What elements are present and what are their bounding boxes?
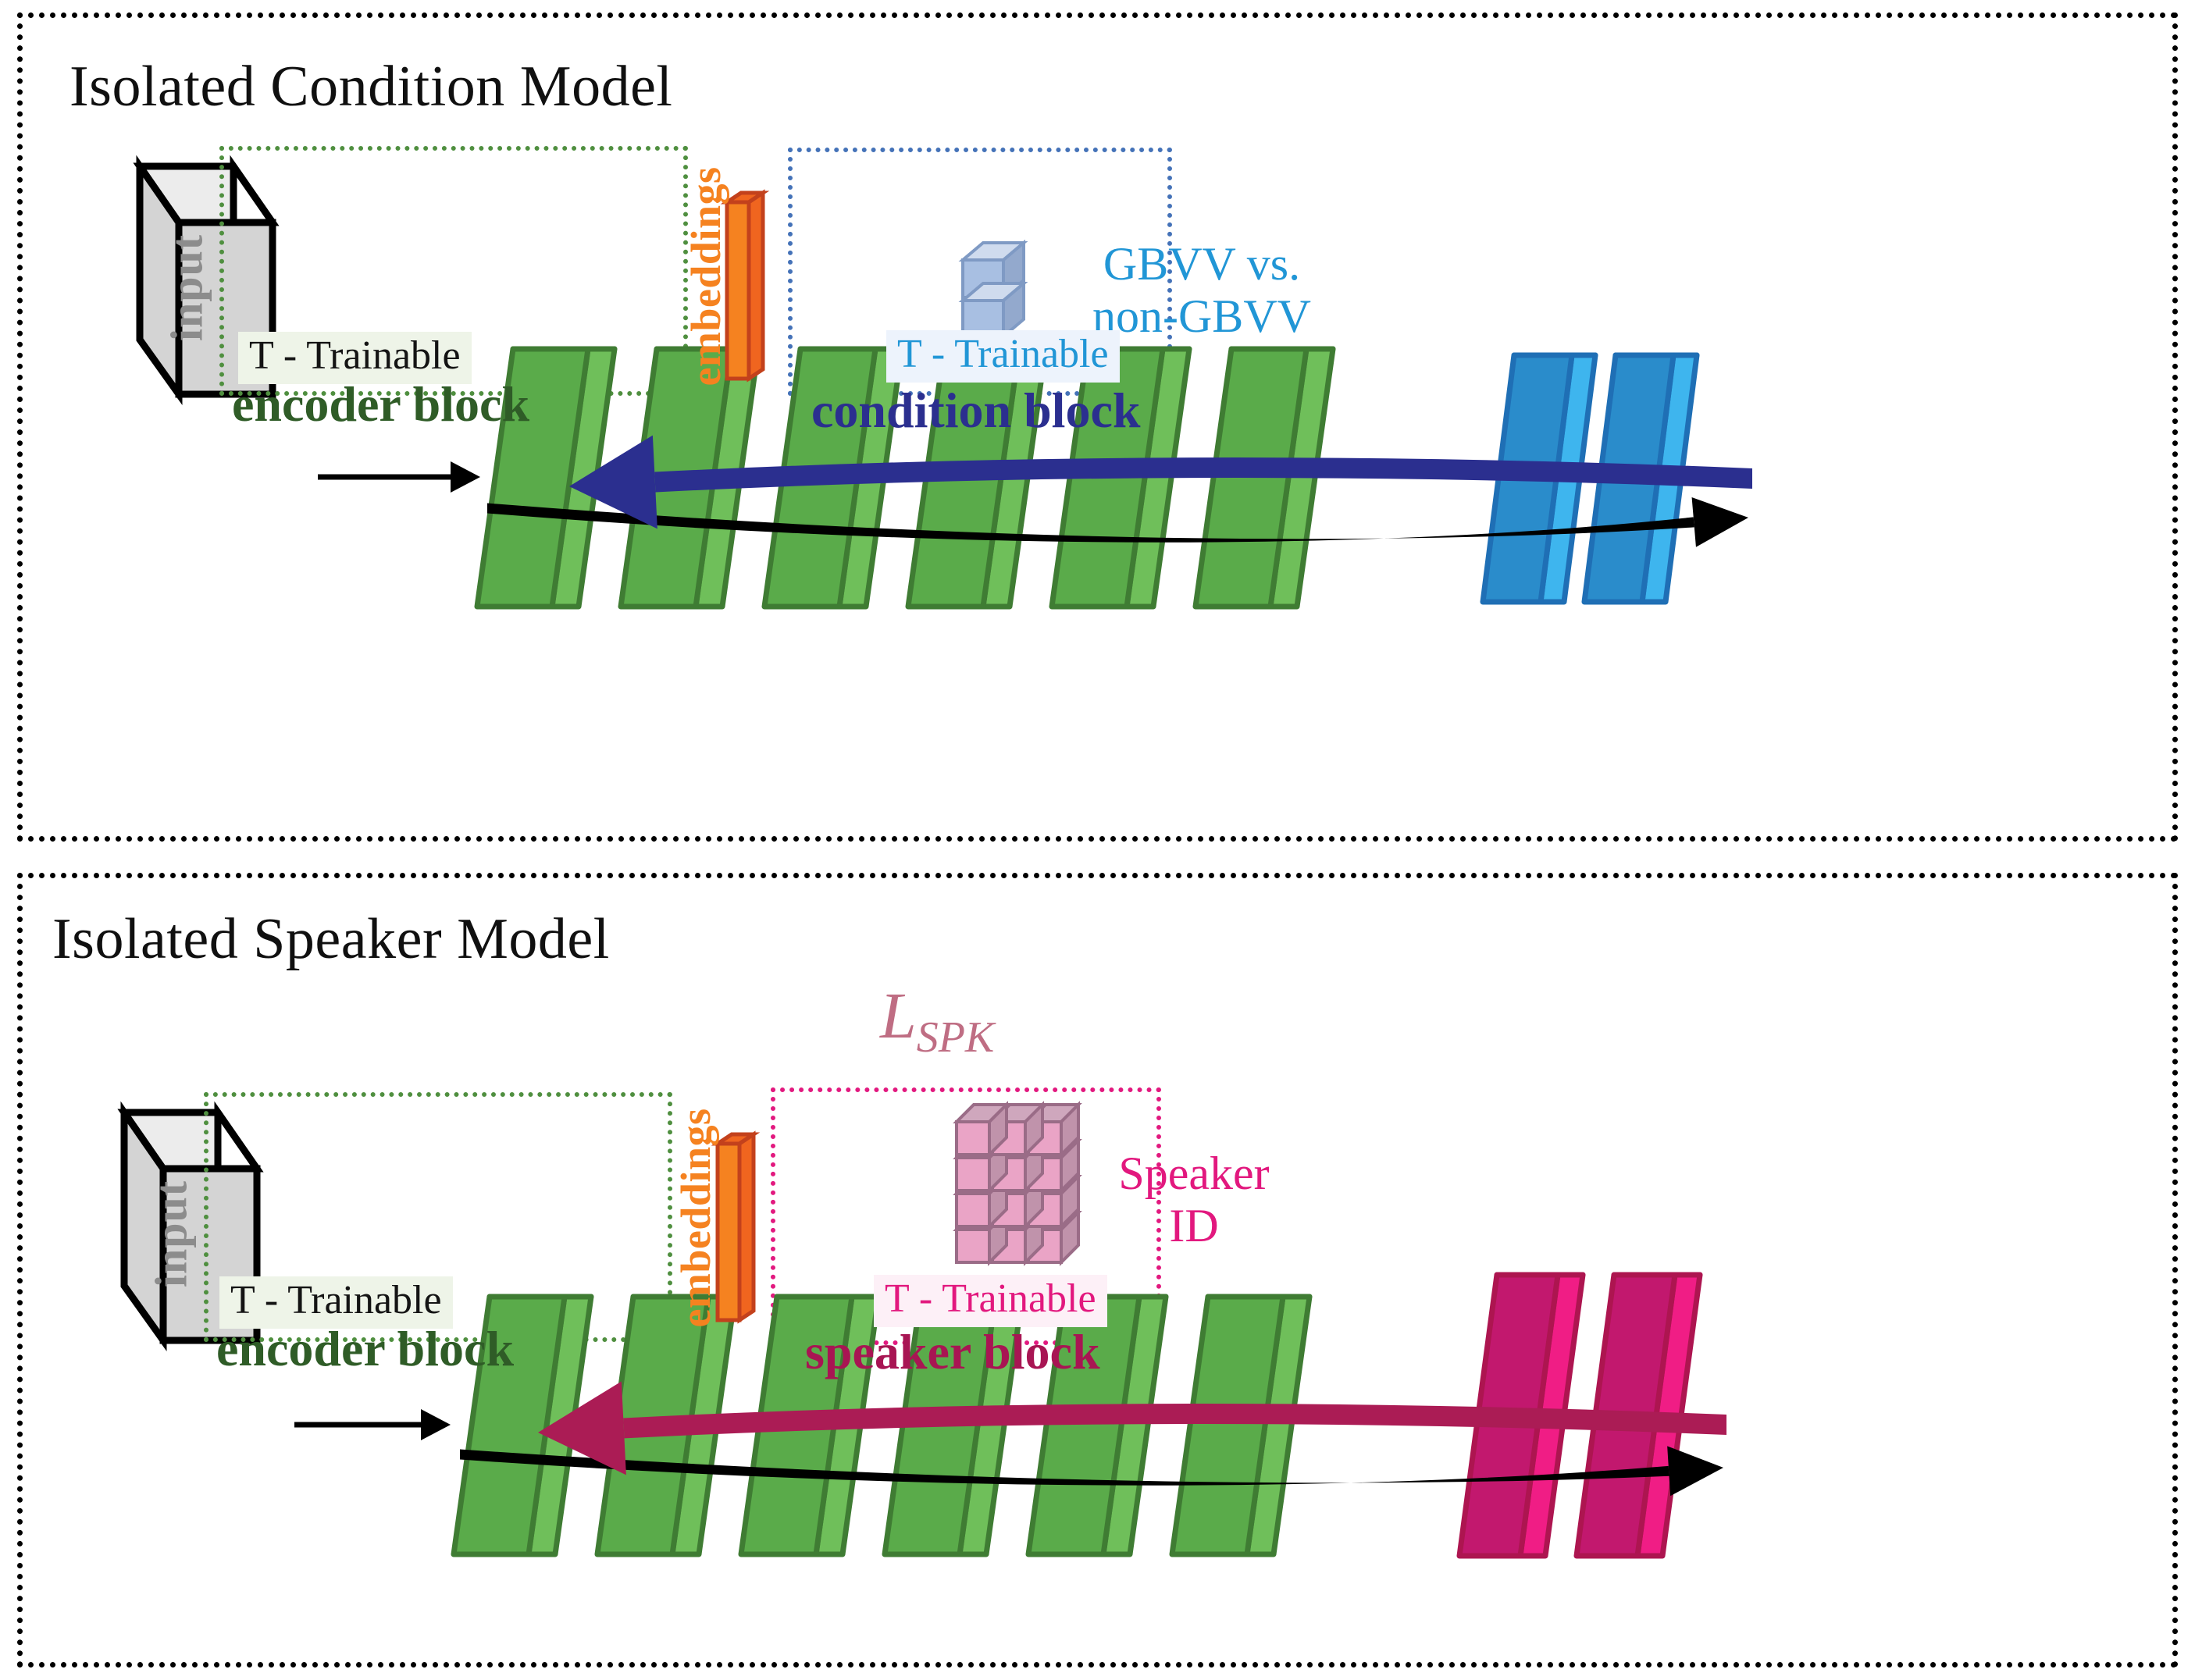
speaker-trainable-tag: T - Trainable	[874, 1275, 1107, 1327]
forward-arrow-speaker	[460, 1446, 1723, 1496]
loss-label-spk: LSPK	[880, 978, 994, 1062]
page-title-condition: Isolated Condition Model	[69, 54, 673, 120]
input-arrowhead-condition	[451, 461, 480, 493]
speaker-output-label: Speaker ID	[1065, 1148, 1323, 1252]
loss-symbol: L	[880, 980, 917, 1052]
speaker-layer-1	[1459, 1275, 1583, 1556]
speaker-output-line-2: ID	[1065, 1200, 1323, 1252]
speaker-block-caption: speaker block	[805, 1323, 1100, 1381]
panel-isolated-condition-model: Isolated Condition Model input	[17, 12, 2178, 842]
input-arrowhead-speaker	[421, 1409, 451, 1440]
condition-output-line-1: GBVV vs.	[1038, 238, 1366, 290]
speaker-output-line-1: Speaker	[1065, 1148, 1323, 1200]
embeddings-label-speaker: embeddings	[672, 1101, 720, 1335]
page-title-speaker: Isolated Speaker Model	[52, 906, 610, 973]
condition-trainable-tag: T - Trainable	[886, 330, 1120, 383]
arrow-group-speaker	[294, 1382, 1726, 1497]
panel-isolated-speaker-model: Isolated Speaker Model input embeddings …	[17, 873, 2178, 1668]
feedback-arrow-speaker	[538, 1382, 1726, 1475]
feedback-arrow-condition	[569, 436, 1752, 529]
speaker-slab-group	[1459, 1275, 1700, 1556]
condition-layer-1	[1483, 355, 1595, 602]
speaker-layer-2	[1577, 1275, 1700, 1556]
embeddings-label-condition: embeddings	[682, 159, 730, 393]
input-label-speaker: input	[145, 1156, 198, 1312]
encoder-block-caption-speaker: encoder block	[216, 1320, 514, 1378]
encoder-layer-speaker-6	[1172, 1297, 1310, 1554]
condition-layer-2	[1584, 355, 1697, 602]
arrow-group-condition	[318, 436, 1752, 547]
encoder-layer-condition-6	[1195, 349, 1333, 607]
loss-subscript: SPK	[917, 1013, 995, 1062]
condition-block-caption: condition block	[811, 382, 1140, 440]
forward-arrow-condition	[487, 497, 1748, 547]
input-label-condition: input	[161, 210, 213, 366]
encoder-block-caption-condition: encoder block	[232, 376, 529, 433]
condition-slab-group	[1483, 355, 1697, 602]
condition-output-label: GBVV vs. non-GBVV	[1038, 238, 1366, 343]
